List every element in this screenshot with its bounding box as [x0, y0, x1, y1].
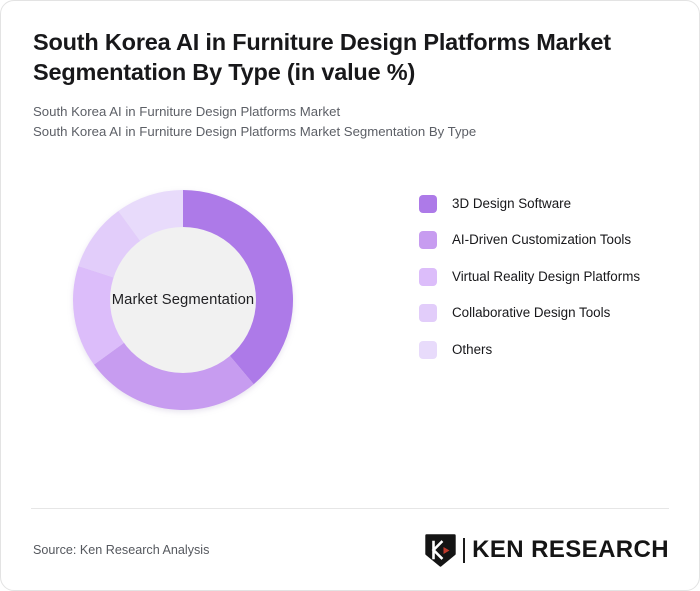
legend-item[interactable]: 3D Design Software: [419, 194, 677, 213]
legend-label: Collaborative Design Tools: [452, 303, 610, 322]
legend-swatch-icon: [419, 231, 437, 249]
ken-research-shield-logo: [425, 534, 456, 567]
legend-item[interactable]: Collaborative Design Tools: [419, 303, 677, 322]
donut-hole: [110, 227, 256, 373]
logo-divider: [463, 538, 465, 563]
chart-header: South Korea AI in Furniture Design Platf…: [1, 1, 699, 142]
legend-swatch-icon: [419, 268, 437, 286]
logo-wordmark: KEN RESEARCH: [472, 536, 669, 564]
legend-item[interactable]: Virtual Reality Design Platforms: [419, 267, 677, 286]
breadcrumb-market: South Korea AI in Furniture Design Platf…: [33, 102, 669, 122]
legend-item[interactable]: AI-Driven Customization Tools: [419, 230, 677, 249]
legend-label: Others: [452, 340, 492, 359]
ken-research-logo: KEN RESEARCH: [425, 534, 669, 567]
footer-divider: [31, 508, 669, 509]
legend-swatch-icon: [419, 304, 437, 322]
donut-svg: [33, 150, 333, 450]
page-title: South Korea AI in Furniture Design Platf…: [33, 27, 663, 88]
chart-legend: 3D Design SoftwareAI-Driven Customizatio…: [419, 194, 677, 359]
legend-label: 3D Design Software: [452, 194, 571, 213]
chart-card: South Korea AI in Furniture Design Platf…: [0, 0, 700, 591]
legend-item[interactable]: Others: [419, 340, 677, 359]
legend-swatch-icon: [419, 195, 437, 213]
chart-footer: Source: Ken Research Analysis KEN RESEAR…: [1, 510, 699, 590]
legend-swatch-icon: [419, 341, 437, 359]
chart-body: Market Segmentation 3D Design SoftwareAI…: [1, 142, 699, 472]
donut-chart: Market Segmentation: [33, 150, 333, 450]
legend-label: Virtual Reality Design Platforms: [452, 267, 640, 286]
legend-label: AI-Driven Customization Tools: [452, 230, 631, 249]
subtitle-group: South Korea AI in Furniture Design Platf…: [33, 102, 669, 142]
source-text: Source: Ken Research Analysis: [33, 543, 209, 557]
breadcrumb-segmentation: South Korea AI in Furniture Design Platf…: [33, 122, 669, 142]
